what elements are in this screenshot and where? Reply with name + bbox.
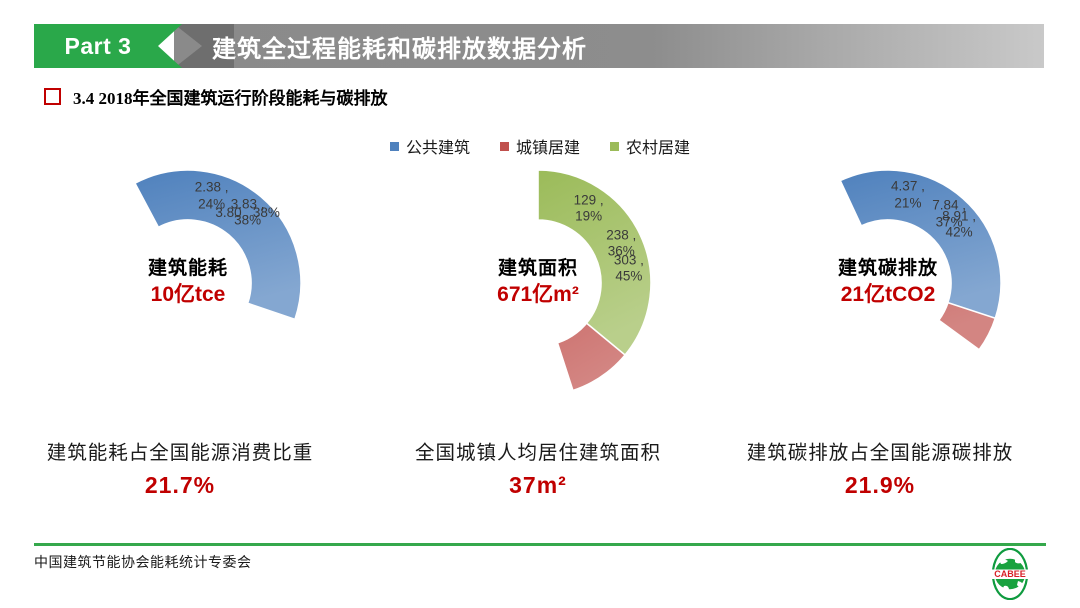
section-bullet-row: 3.4 2018年全国建筑运行阶段能耗与碳排放	[44, 84, 388, 109]
page-title: 建筑全过程能耗和碳排放数据分析	[212, 24, 587, 68]
footer-divider	[34, 543, 1046, 546]
donut-data-label: 4.37 , 21%	[891, 179, 925, 212]
caption-energy-text: 建筑能耗占全国能源消费比重	[10, 436, 350, 465]
legend-label-urban: 城镇居建	[516, 134, 580, 158]
donut-data-label: 2.38 , 24%	[195, 180, 229, 213]
legend-swatch-green	[610, 142, 619, 151]
caption-energy: 建筑能耗占全国能源消费比重 21.7%	[10, 436, 350, 499]
donut-graphic-area: 建筑面积 671亿m² 129 , 19%303 , 45%238 , 36%	[413, 158, 663, 408]
caption-area-text: 全国城镇人均居住建筑面积	[368, 436, 708, 465]
caption-carbon-text: 建筑碳排放占全国能源碳排放	[700, 436, 1060, 465]
donut-chart-carbon: 建筑碳排放 21亿tCO2 8.91 , 42%4.37 , 21%7.84 ,…	[718, 158, 1058, 428]
cabee-logo: CABEE	[982, 548, 1038, 600]
caption-row: 建筑能耗占全国能源消费比重 21.7% 全国城镇人均居住建筑面积 37m² 建筑…	[0, 436, 1080, 516]
legend-swatch-red	[500, 142, 509, 151]
cabee-logo-text: CABEE	[994, 569, 1026, 579]
caption-carbon-value: 21.9%	[700, 472, 1060, 499]
slide-header: Part 3 建筑全过程能耗和碳排放数据分析	[34, 24, 1044, 68]
chart-legend: 公共建筑 城镇居建 农村居建	[0, 134, 1080, 158]
legend-item-rural: 农村居建	[610, 134, 690, 158]
legend-swatch-blue	[390, 142, 399, 151]
donut-data-label: 238 , 36%	[600, 227, 642, 260]
caption-area-value: 37m²	[368, 472, 708, 499]
caption-carbon: 建筑碳排放占全国能源碳排放 21.9%	[700, 436, 1060, 499]
legend-label-rural: 农村居建	[626, 134, 690, 158]
legend-item-urban: 城镇居建	[500, 134, 580, 158]
donut-graphic-carbon: 建筑碳排放 21亿tCO2 8.91 , 42%4.37 , 21%7.84 ,…	[763, 158, 1013, 408]
legend-item-public: 公共建筑	[390, 134, 470, 158]
donut-data-label: 7.84 , 37%	[932, 198, 966, 231]
donut-data-label: 129 , 19%	[574, 192, 604, 225]
section-heading: 3.4 2018年全国建筑运行阶段能耗与碳排放	[73, 84, 388, 109]
square-bullet-icon	[44, 88, 61, 105]
caption-area: 全国城镇人均居住建筑面积 37m²	[368, 436, 708, 499]
part-label: Part 3	[34, 24, 162, 68]
donut-chart-area: 建筑面积 671亿m² 129 , 19%303 , 45%238 , 36%	[368, 158, 708, 428]
cabee-logo-icon: CABEE	[982, 548, 1038, 600]
legend-label-public: 公共建筑	[406, 134, 470, 158]
donut-data-label: 3.83 , 38%	[231, 196, 265, 229]
donut-svg-carbon	[763, 158, 1013, 408]
donut-svg-energy	[63, 158, 313, 408]
donut-chart-energy: 建筑能耗 10亿tce 3.80 , 38%2.38 , 24%3.83 , 3…	[18, 158, 358, 428]
donut-chart-row: 建筑能耗 10亿tce 3.80 , 38%2.38 , 24%3.83 , 3…	[0, 158, 1080, 428]
caption-energy-value: 21.7%	[10, 472, 350, 499]
footer-organization: 中国建筑节能协会能耗统计专委会	[34, 552, 252, 572]
donut-graphic-energy: 建筑能耗 10亿tce 3.80 , 38%2.38 , 24%3.83 , 3…	[63, 158, 313, 408]
